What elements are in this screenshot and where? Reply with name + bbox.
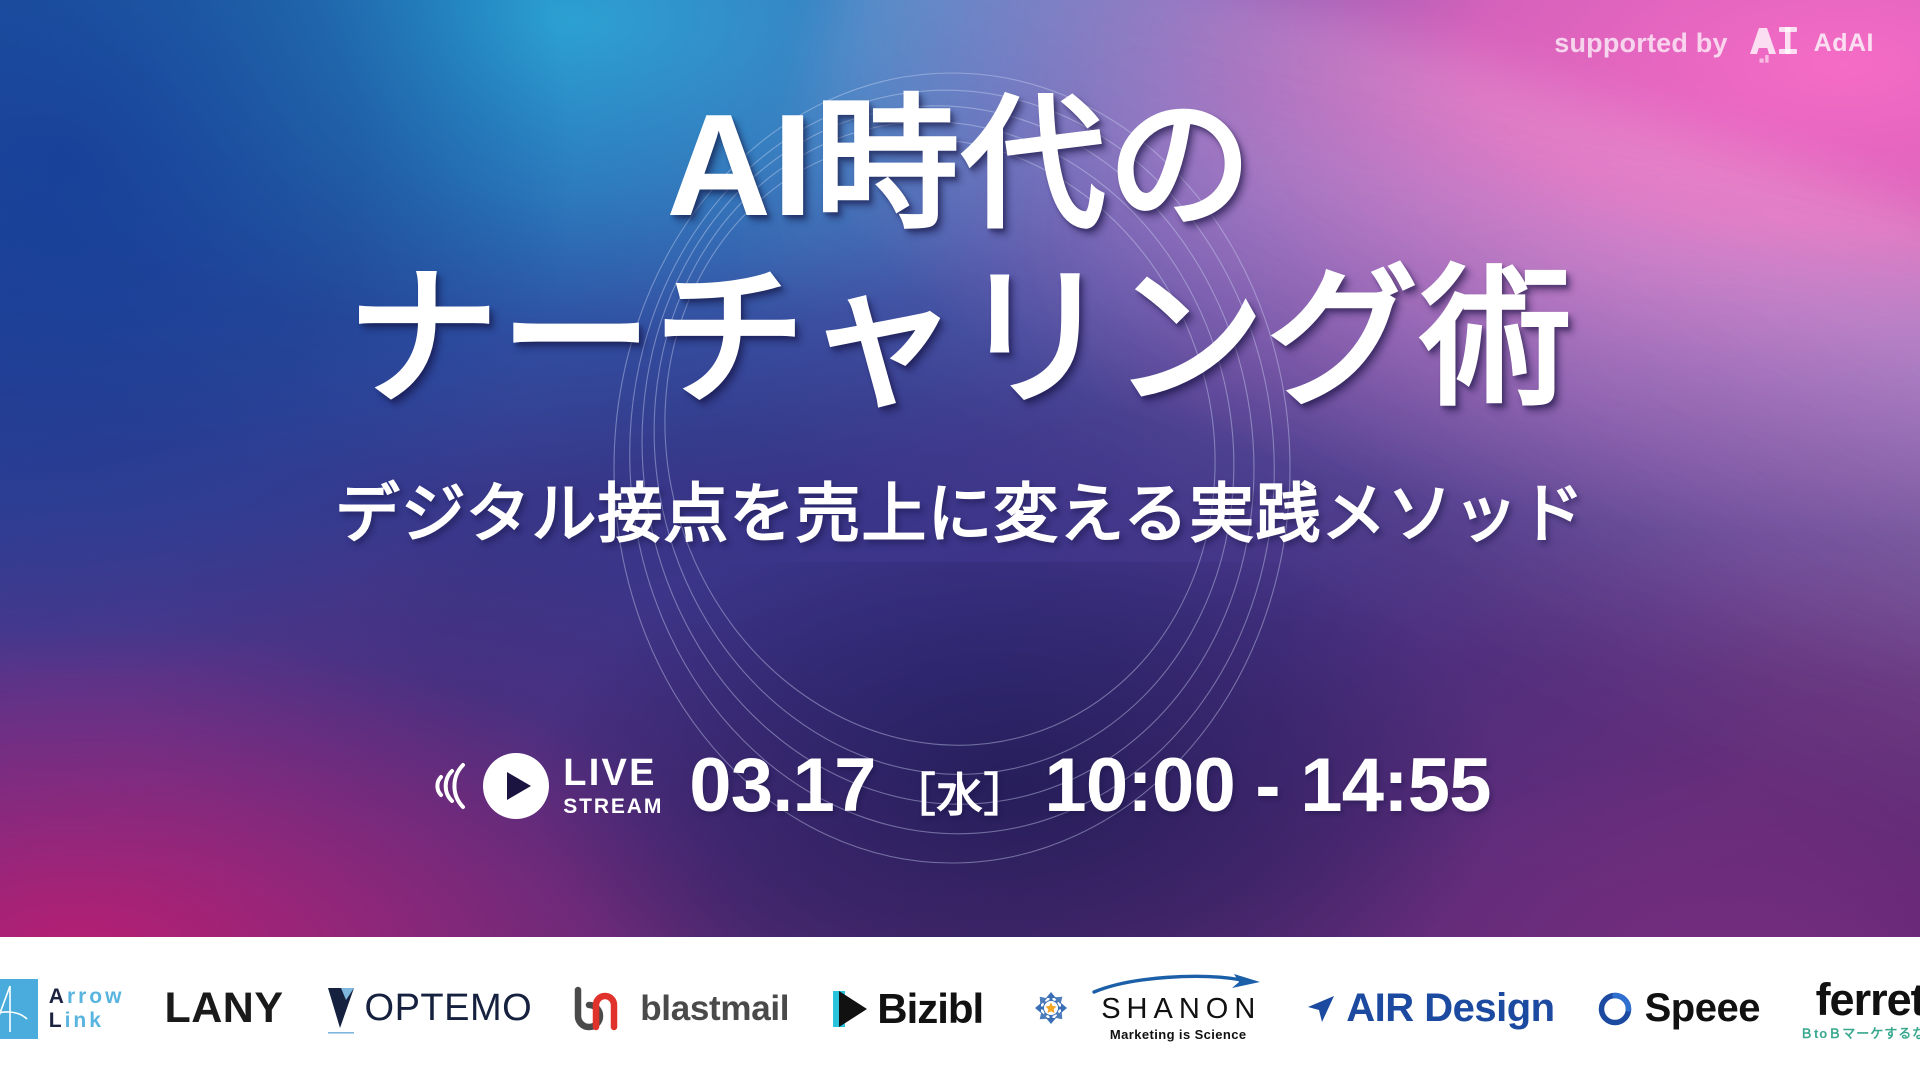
promo-banner: supported by AdAI AI時代の ナーチャリング術 デジタル接点を… bbox=[0, 0, 1920, 1080]
ferret-tagline: ＢtoＢマーケするなら bbox=[1800, 1027, 1920, 1040]
supported-by-label: supported by bbox=[1554, 28, 1727, 59]
supported-by-block: supported by AdAI bbox=[1554, 22, 1874, 64]
sponsor-logo-arrow-link[interactable]: Arrow Link bbox=[0, 979, 144, 1039]
optemo-triangle-icon bbox=[324, 980, 358, 1038]
hero-block: AI時代の ナーチャリング術 デジタル接点を売上に変える実践メソッド bbox=[0, 92, 1920, 555]
sponsor-logo-lany[interactable]: LANY bbox=[144, 984, 303, 1033]
arrow-link-line-1: Arrow bbox=[49, 985, 125, 1009]
sponsor-logo-shanon[interactable]: SHANON Marketing is Science bbox=[1003, 974, 1284, 1042]
play-circle-icon bbox=[483, 753, 549, 819]
page-subtitle: デジタル接点を売上に変える実践メソッド bbox=[335, 461, 1585, 555]
play-triangle-icon bbox=[507, 772, 531, 800]
event-datetime: 03.17 ［水］ 10:00 - 14:55 bbox=[689, 742, 1491, 829]
arrow-link-line-2: Link bbox=[49, 1009, 125, 1033]
blastmail-wordmark: blastmail bbox=[640, 989, 789, 1029]
live-stream-badge: LIVE STREAM bbox=[429, 753, 663, 819]
adai-logo-icon bbox=[1746, 22, 1802, 64]
shanon-wordmark: SHANON bbox=[1095, 994, 1261, 1026]
sponsor-logo-speee[interactable]: Speee bbox=[1575, 986, 1780, 1031]
speee-wordmark: Speee bbox=[1645, 986, 1760, 1031]
sponsor-logo-bar: Arrow Link LANY OPTEMO bbox=[0, 937, 1920, 1080]
ferret-wordmark: ferret bbox=[1816, 977, 1920, 1022]
air-design-arrow-icon bbox=[1304, 992, 1338, 1026]
broadcast-waves-icon bbox=[429, 755, 471, 817]
sponsor-logo-air-design[interactable]: AIR Design bbox=[1284, 986, 1574, 1031]
bizibl-wordmark: Bizibl bbox=[877, 985, 983, 1033]
live-stream-wordmark: LIVE STREAM bbox=[563, 754, 663, 817]
event-date: 03.17 bbox=[689, 742, 875, 829]
bizibl-play-icon bbox=[829, 986, 873, 1032]
stream-label: STREAM bbox=[563, 796, 663, 817]
arrow-link-mark-icon bbox=[0, 979, 38, 1039]
live-label: LIVE bbox=[563, 754, 663, 792]
air-design-wordmark: AIR Design bbox=[1346, 986, 1554, 1031]
page-title-line-2: ナーチャリング術 bbox=[347, 262, 1574, 417]
event-info-row: LIVE STREAM 03.17 ［水］ 10:00 - 14:55 bbox=[0, 742, 1920, 829]
sponsor-logo-ferret[interactable]: ferret ＢtoＢマーケするなら bbox=[1780, 977, 1920, 1040]
optemo-wordmark: OPTEMO bbox=[365, 987, 533, 1030]
sponsor-logo-optemo[interactable]: OPTEMO bbox=[304, 980, 553, 1038]
sponsor-brand-name: AdAI bbox=[1814, 29, 1874, 58]
event-weekday: ［水］ bbox=[890, 759, 1031, 825]
blastmail-bm-icon bbox=[572, 986, 628, 1032]
sponsor-logo-bizibl[interactable]: Bizibl bbox=[809, 985, 1003, 1033]
sponsor-logo: AdAI bbox=[1746, 22, 1874, 64]
shanon-circle-arrow-icon bbox=[1023, 980, 1083, 1038]
page-title-line-1: AI時代の bbox=[666, 92, 1253, 240]
event-time: 10:00 - 14:55 bbox=[1044, 742, 1490, 829]
sponsor-logo-blastmail[interactable]: blastmail bbox=[552, 986, 809, 1032]
shanon-swoosh-arrow-icon bbox=[1092, 974, 1264, 994]
speee-ring-icon bbox=[1595, 989, 1635, 1029]
shanon-tagline: Marketing is Science bbox=[1110, 1028, 1247, 1042]
lany-wordmark: LANY bbox=[164, 984, 283, 1033]
